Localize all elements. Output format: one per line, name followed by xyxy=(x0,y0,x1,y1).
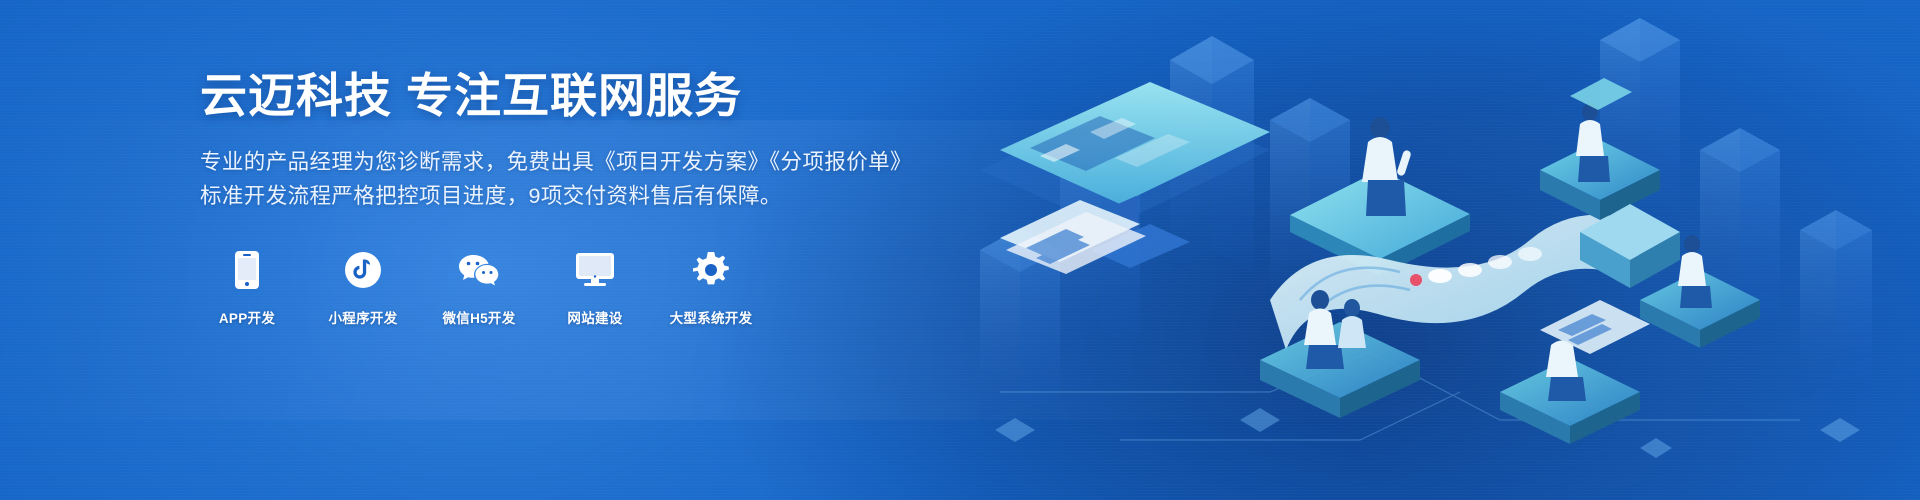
hero-banner: 云迈科技 专注互联网服务 专业的产品经理为您诊断需求，免费出具《项目开发方案》《… xyxy=(0,0,1920,500)
service-label-app: APP开发 xyxy=(219,307,275,327)
mini-program-icon xyxy=(342,249,384,291)
service-item-website[interactable]: 网站建设 xyxy=(558,249,632,327)
service-label-mini-program: 小程序开发 xyxy=(329,307,398,327)
service-label-wechat-h5: 微信H5开发 xyxy=(442,307,515,327)
monitor-icon xyxy=(574,249,616,291)
service-item-mini-program[interactable]: 小程序开发 xyxy=(326,249,400,327)
service-item-wechat[interactable]: 微信H5开发 xyxy=(442,249,516,327)
service-item-app[interactable]: APP开发 xyxy=(210,249,284,327)
service-list: APP开发 小程序开发 xyxy=(200,249,960,327)
service-label-website: 网站建设 xyxy=(567,307,622,327)
gear-icon xyxy=(690,249,732,291)
subtitle-line-2: 标准开发流程严格把控项目进度，9项交付资料售后有保障。 xyxy=(200,179,960,213)
mobile-phone-icon xyxy=(226,249,268,291)
service-label-large-system: 大型系统开发 xyxy=(670,307,753,327)
wechat-icon xyxy=(458,249,500,291)
subtitle-line-1: 专业的产品经理为您诊断需求，免费出具《项目开发方案》《分项报价单》 xyxy=(200,145,960,179)
banner-content: 云迈科技 专注互联网服务 专业的产品经理为您诊断需求，免费出具《项目开发方案》《… xyxy=(200,68,960,327)
page-title: 云迈科技 专注互联网服务 xyxy=(200,68,960,123)
service-item-large-system[interactable]: 大型系统开发 xyxy=(674,249,748,327)
